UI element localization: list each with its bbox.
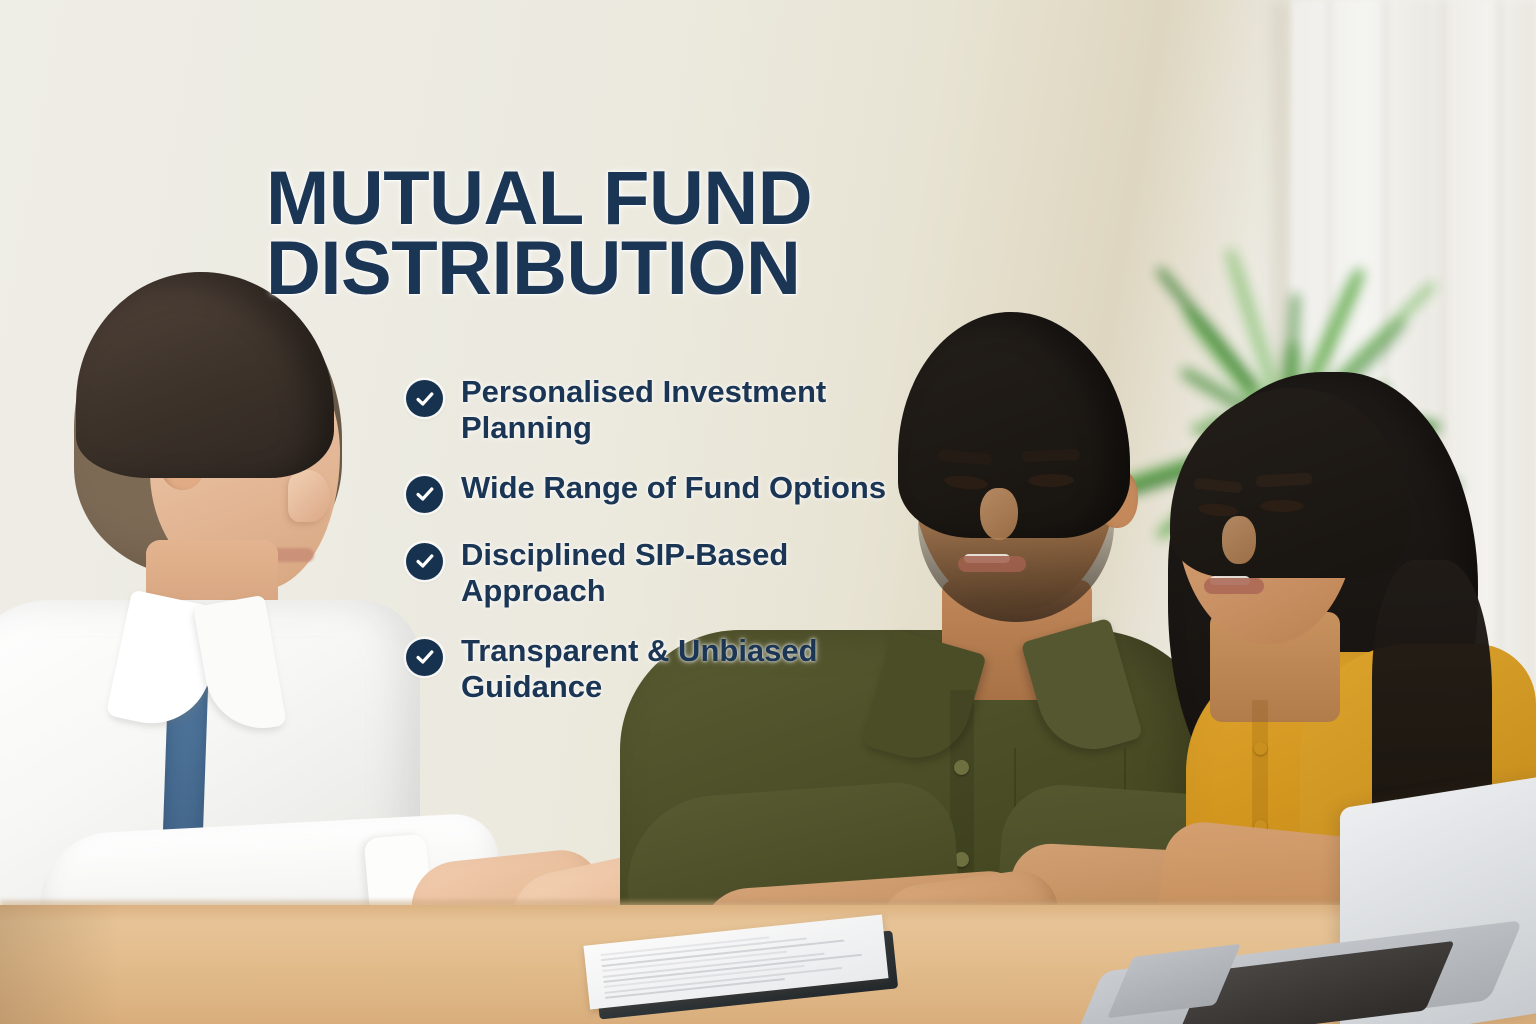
- benefits-list: Personalised Investment PlanningWide Ran…: [366, 374, 936, 729]
- female-client-eye-right: [1260, 500, 1304, 512]
- check-circle-icon: [406, 639, 443, 676]
- advisor-nose: [288, 470, 330, 522]
- male-client-nose: [980, 488, 1018, 540]
- benefit-item: Disciplined SIP-Based Approach: [406, 537, 936, 609]
- benefit-item: Wide Range of Fund Options: [406, 470, 936, 513]
- check-circle-icon: [406, 543, 443, 580]
- male-client-shirt-button: [954, 760, 969, 775]
- male-client-eyebrow-right: [1022, 449, 1080, 462]
- page-title: Mutual Fund Distribution: [266, 164, 926, 304]
- check-circle-icon: [406, 380, 443, 417]
- page-title-line-2: Distribution: [266, 234, 926, 304]
- check-circle-icon: [406, 476, 443, 513]
- benefit-item: Transparent & Unbiased Guidance: [406, 633, 936, 705]
- female-client-top-button: [1254, 742, 1267, 755]
- female-client-nose: [1222, 516, 1256, 564]
- benefit-label: Disciplined SIP-Based Approach: [461, 537, 936, 609]
- table-shadow: [0, 905, 120, 1024]
- benefit-item: Personalised Investment Planning: [406, 374, 936, 446]
- benefit-label: Wide Range of Fund Options: [461, 470, 886, 506]
- female-client-mouth: [1204, 578, 1264, 594]
- banner-canvas: Mutual Fund Distribution Personalised In…: [0, 0, 1536, 1024]
- benefit-label: Personalised Investment Planning: [461, 374, 936, 446]
- benefit-label: Transparent & Unbiased Guidance: [461, 633, 936, 705]
- male-client-mouth: [958, 556, 1026, 572]
- page-title-line-1: Mutual Fund: [266, 164, 926, 234]
